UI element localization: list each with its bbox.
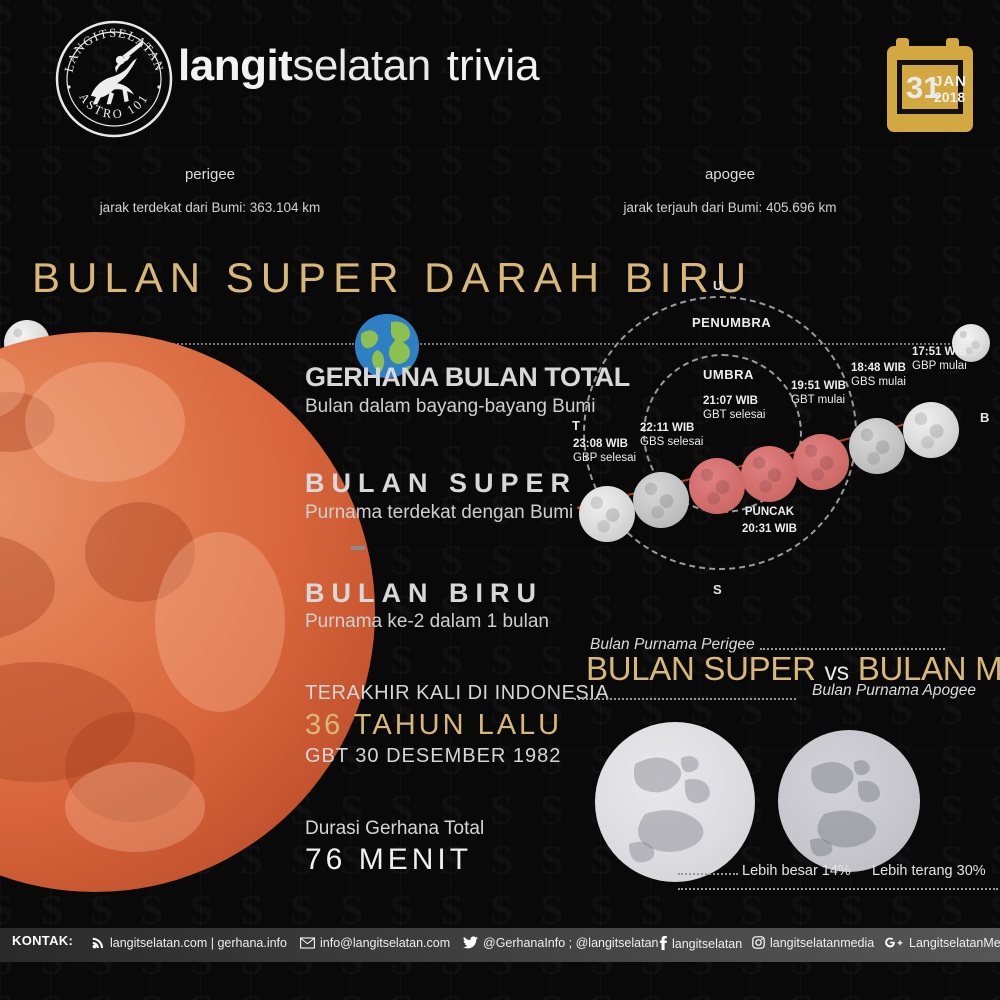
- size-caption-line: [678, 873, 738, 875]
- mini-moon-graphic: [778, 730, 920, 872]
- rss-icon: [92, 936, 105, 949]
- watermark-glyph: S: [190, 990, 213, 1000]
- footer-item-email[interactable]: info@langitselatan.com: [300, 936, 450, 950]
- watermark-glyph: S: [390, 990, 413, 1000]
- event-name: GBP selesai: [573, 452, 636, 464]
- event-time: 23:08 WIB: [573, 438, 636, 452]
- watermark-glyph: S: [290, 990, 313, 1000]
- footer-item-instagram[interactable]: langitselatanmedia: [752, 936, 874, 950]
- size-caption: Lebih besar 14%: [742, 863, 851, 879]
- watermark-glyph: S: [390, 540, 413, 582]
- watermark-glyph: S: [690, 990, 713, 1000]
- watermark-glyph: S: [40, 990, 63, 1000]
- footer-item-text: langitselatan.com | gerhana.info: [110, 936, 287, 950]
- fact-heading: BULAN SUPER: [305, 468, 577, 499]
- perigee-value: jarak terdekat dari Bumi: 363.104 km: [60, 200, 360, 215]
- duration-block: Durasi Gerhana Total 76 MENIT: [305, 818, 484, 877]
- fact-sub: Purnama terdekat dengan Bumi: [305, 502, 577, 524]
- watermark-glyph: S: [290, 890, 313, 932]
- calendar-icon: 31 JAN 2018: [884, 36, 976, 136]
- peak-text: PUNCAK: [742, 506, 797, 520]
- brand-title: langitselatantrivia: [178, 40, 540, 92]
- moon-1951: [793, 434, 849, 490]
- watermark-glyph: S: [140, 890, 163, 932]
- watermark-glyph: S: [790, 990, 813, 1000]
- event-name: GBT selesai: [703, 409, 765, 421]
- duration-label: Durasi Gerhana Total: [305, 818, 484, 840]
- watermark-glyph: S: [990, 990, 1000, 1000]
- event-time: 21:07 WIB: [703, 395, 765, 409]
- twitter-icon: [463, 936, 478, 949]
- fact-block-bulan-biru: BULAN BIRU Purnama ke-2 dalam 1 bulan: [305, 578, 549, 633]
- watermark-glyph: S: [440, 640, 463, 682]
- event-name: GBP mulai: [912, 360, 967, 372]
- watermark-glyph: S: [940, 990, 963, 1000]
- divider-dash: [351, 546, 365, 550]
- brand-bold: langit: [178, 41, 292, 90]
- apogee-caption: Bulan Purnama Apogee: [812, 682, 976, 700]
- watermark-glyph: S: [740, 990, 763, 1000]
- header: LANGITSELATAN ASTRO 101 langitselatantri…: [0, 0, 1000, 148]
- fact-block-bulan-super: BULAN SUPER Purnama terdekat dengan Bumi: [305, 468, 577, 524]
- brand-suffix: trivia: [447, 41, 540, 90]
- watermark-glyph: S: [890, 990, 913, 1000]
- facebook-icon: [658, 936, 667, 950]
- svg-text:LANGITSELATAN: LANGITSELATAN: [62, 26, 167, 74]
- fact-heading: BULAN BIRU: [305, 578, 549, 609]
- footer-item-text: langitselatan: [672, 937, 742, 951]
- footer-item-facebook[interactable]: langitselatan: [658, 936, 742, 951]
- footer-item-text: @GerhanaInfo ; @langitselatan: [483, 936, 658, 950]
- svg-text:ASTRO 101: ASTRO 101: [76, 90, 151, 121]
- watermark-glyph: S: [390, 640, 413, 682]
- watermark-glyph: S: [240, 890, 263, 932]
- eclipse-shadow-diagram: U S T B PENUMBRA UMBRA 23:08 WIB GBP sel…: [545, 270, 1000, 610]
- footer-item-twitter[interactable]: @GerhanaInfo ; @langitselatan: [463, 936, 658, 950]
- event-label-1848: 18:48 WIB GBS mulai: [851, 362, 906, 389]
- event-label-1751: 17:51 WIB GBP mulai: [912, 346, 967, 373]
- super-vs-mini-section: Bulan Purnama Perigee BULAN SUPER vs BUL…: [560, 630, 1000, 915]
- perigee-label: perigee: [120, 166, 300, 183]
- watermark-glyph: S: [440, 990, 463, 1000]
- footer-item-text: langitselatanmedia: [770, 936, 874, 950]
- watermark-glyph: S: [440, 890, 463, 932]
- brand-light: selatan: [292, 41, 430, 90]
- watermark-glyph: S: [90, 990, 113, 1000]
- watermark-glyph: S: [40, 890, 63, 932]
- watermark-glyph: S: [840, 990, 863, 1000]
- watermark-glyph: S: [590, 990, 613, 1000]
- event-time: 17:51 WIB: [912, 346, 967, 360]
- watermark-glyph: S: [640, 990, 663, 1000]
- event-time: 22:11 WIB: [640, 422, 703, 436]
- apogee-value: jarak terjauh dari Bumi: 405.696 km: [580, 200, 880, 215]
- footer-item-text: info@langitselatan.com: [320, 936, 450, 950]
- apogee-caption-line: [574, 698, 796, 700]
- duration-value: 76 MENIT: [305, 843, 484, 877]
- watermark-glyph: S: [0, 890, 13, 932]
- watermark-glyph: S: [90, 890, 113, 932]
- moon-2107: [689, 458, 745, 514]
- langitselatan-logo: LANGITSELATAN ASTRO 101: [52, 17, 176, 141]
- watermark-glyph: S: [490, 640, 513, 682]
- footer-label: KONTAK:: [12, 933, 73, 948]
- watermark-glyph: S: [390, 890, 413, 932]
- compare-title-a: BULAN SUPER: [586, 650, 816, 687]
- watermark-glyph: S: [340, 990, 363, 1000]
- watermark-glyph: S: [440, 540, 463, 582]
- watermark-glyph: S: [340, 890, 363, 932]
- event-label-2308: 23:08 WIB GBP selesai: [573, 438, 636, 465]
- moon-1848: [849, 418, 905, 474]
- watermark-glyph: S: [490, 990, 513, 1000]
- watermark-glyph: S: [490, 890, 513, 932]
- watermark-glyph: S: [540, 990, 563, 1000]
- calendar-year: 2018: [934, 89, 965, 105]
- calendar-month: JAN: [934, 73, 967, 90]
- watermark-glyph: S: [240, 990, 263, 1000]
- event-time: 19:51 WIB: [791, 380, 846, 394]
- footer-item-text: LangitselatanMedia: [909, 936, 1000, 950]
- moon-2211: [633, 472, 689, 528]
- watermark-glyph: S: [140, 990, 163, 1000]
- event-label-2211: 22:11 WIB GBS selesai: [640, 422, 703, 449]
- peak-time: 20:31 WIB: [742, 523, 797, 537]
- orbit-distance-row: perigee jarak terdekat dari Bumi: 363.10…: [0, 150, 1000, 242]
- event-time: 18:48 WIB: [851, 362, 906, 376]
- watermark-glyph: S: [490, 790, 513, 832]
- event-name: GBS mulai: [851, 376, 906, 388]
- event-label-2107: 21:07 WIB GBT selesai: [703, 395, 765, 422]
- watermark-glyph: S: [190, 890, 213, 932]
- event-label-1951: 19:51 WIB GBT mulai: [791, 380, 846, 407]
- super-moon-graphic: [595, 722, 755, 882]
- moon-1751: [903, 402, 959, 458]
- fact-sub: Purnama ke-2 dalam 1 bulan: [305, 611, 549, 633]
- watermark-glyph: S: [0, 240, 13, 282]
- footer-item-website[interactable]: langitselatan.com | gerhana.info: [92, 936, 287, 950]
- bottom-rule-line: [678, 888, 998, 890]
- apogee-label: apogee: [640, 166, 820, 183]
- watermark-glyph: S: [490, 840, 513, 882]
- instagram-icon: [752, 936, 765, 949]
- email-icon: [300, 937, 315, 949]
- googleplus-icon: [884, 936, 904, 949]
- infographic-root: SSSSSSSSSSSSSSSSSSSSSSSSSSSSSSSSSSSSSSSS…: [0, 0, 1000, 1000]
- footer-item-googleplus[interactable]: LangitselatanMedia: [884, 936, 1000, 950]
- brightness-caption: Lebih terang 30%: [872, 863, 986, 879]
- event-name: GBS selesai: [640, 436, 703, 448]
- moon-2308: [579, 486, 635, 542]
- moon-puncak: [741, 446, 797, 502]
- watermark-glyph: S: [0, 990, 13, 1000]
- peak-label: PUNCAK 20:31 WIB: [742, 506, 797, 536]
- watermark-glyph: S: [490, 540, 513, 582]
- event-name: GBT mulai: [791, 394, 845, 406]
